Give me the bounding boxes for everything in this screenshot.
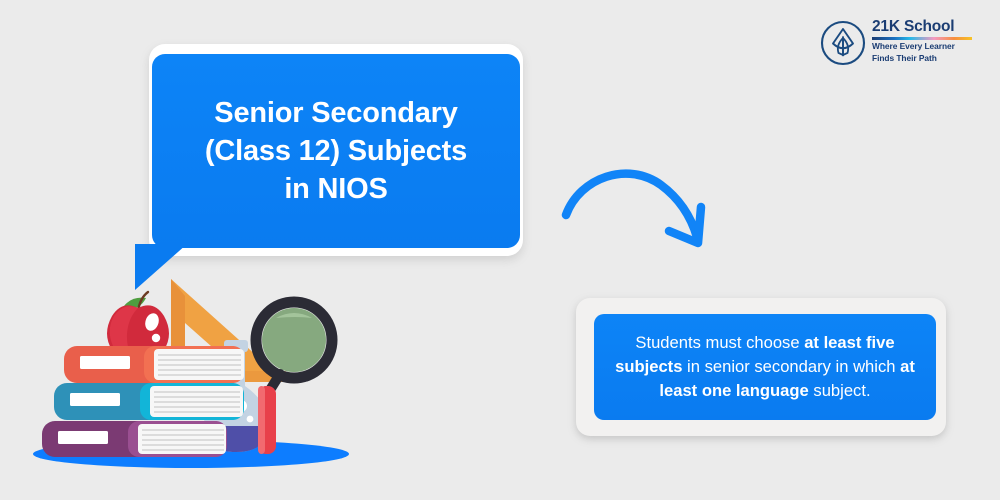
info-plain: subject. xyxy=(809,381,871,400)
info-plain: Students must choose xyxy=(635,333,804,352)
curved-arrow-right-down-icon xyxy=(558,155,718,260)
lotus-circle-logo-icon xyxy=(820,20,866,66)
info-card: Students must choose at least five subje… xyxy=(594,314,936,420)
brand-name: 21K School xyxy=(872,18,976,36)
book-red xyxy=(64,346,244,383)
book-purple xyxy=(42,421,227,457)
info-card-text: Students must choose at least five subje… xyxy=(594,331,936,403)
brand-text-block: 21K School Where Every Learner Finds The… xyxy=(872,18,976,64)
headline-bubble: Senior Secondary (Class 12) Subjects in … xyxy=(152,54,520,248)
brand-gradient-rule xyxy=(872,37,972,40)
book-blue xyxy=(54,383,244,420)
poster-canvas: 21K School Where Every Learner Finds The… xyxy=(0,0,1000,500)
brand-tagline-line-2: Finds Their Path xyxy=(872,53,976,64)
education-supplies-illustration xyxy=(28,278,368,478)
brand-logo[interactable]: 21K School Where Every Learner Finds The… xyxy=(820,18,975,68)
brand-tagline-line-1: Where Every Learner xyxy=(872,41,976,52)
info-plain: in senior secondary in which xyxy=(682,357,900,376)
page-title: Senior Secondary (Class 12) Subjects in … xyxy=(193,94,479,208)
